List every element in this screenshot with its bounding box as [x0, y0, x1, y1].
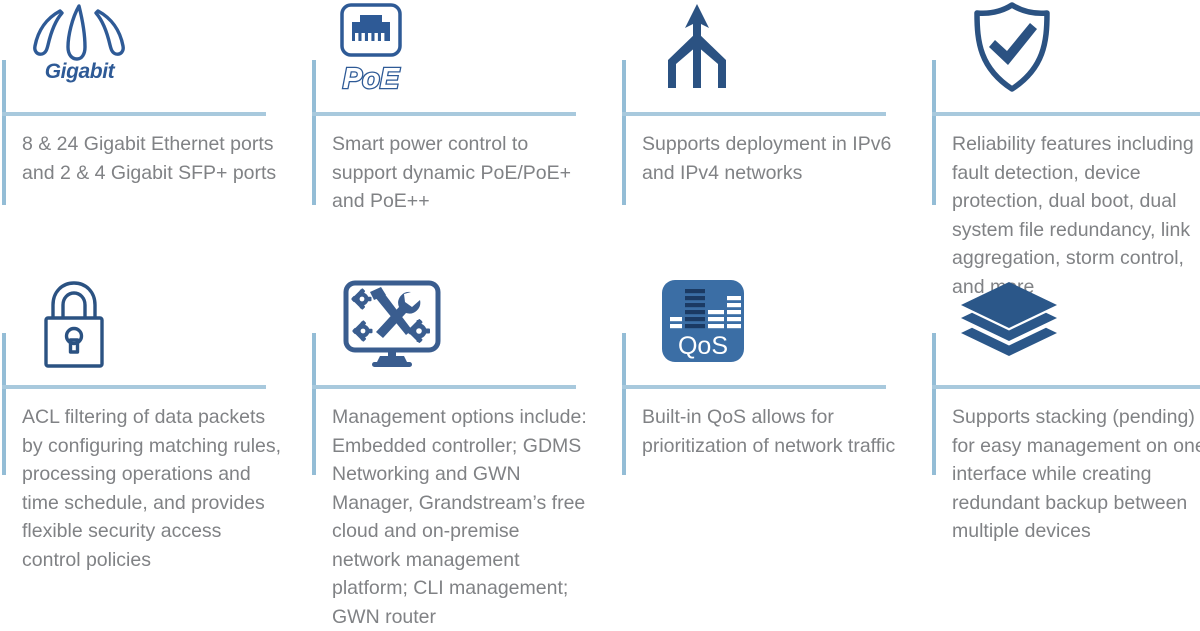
feature-card-gigabit: Gigabit 8 & 24 Gigabit Ethernet ports an…: [0, 0, 310, 270]
vertical-divider: [932, 60, 936, 205]
horizontal-divider: [2, 112, 266, 116]
feature-card-acl: ACL filtering of data packets by configu…: [0, 270, 310, 568]
monitor-tools-icon: [340, 278, 444, 378]
shield-check-glyph: [968, 2, 1056, 94]
feature-text: Smart power control to support dynamic P…: [332, 130, 592, 216]
feature-text: Supports stacking (pending) for easy man…: [952, 403, 1200, 546]
feature-text: ACL filtering of data packets by configu…: [22, 403, 282, 574]
stack-layers-icon: [958, 278, 1060, 378]
feature-text: Built-in QoS allows for prioritization o…: [642, 403, 902, 460]
converging-arrow-glyph: [656, 2, 738, 94]
horizontal-divider: [932, 385, 1200, 389]
shield-check-icon: [968, 2, 1056, 102]
horizontal-divider: [932, 112, 1200, 116]
vertical-divider: [312, 333, 316, 475]
vertical-divider: [622, 60, 626, 205]
ethernet-port-glyph: [332, 2, 410, 60]
svg-text:PoE: PoE: [343, 63, 401, 95]
qos-badge-glyph: QoS: [660, 278, 746, 364]
qos-icon: QoS: [660, 278, 746, 378]
padlock-icon: [34, 278, 114, 378]
feature-text: Supports deployment in IPv6 and IPv4 net…: [642, 130, 902, 187]
horizontal-divider: [312, 385, 576, 389]
feature-card-ipv6: Supports deployment in IPv6 and IPv4 net…: [620, 0, 930, 270]
gigabit-glyph: [22, 2, 137, 64]
feature-card-poe: PoE Smart power control to support dynam…: [310, 0, 620, 270]
gigabit-icon: Gigabit: [22, 2, 137, 102]
vertical-divider: [2, 333, 6, 475]
poe-wordmark-glyph: PoE: [332, 60, 410, 96]
padlock-glyph: [34, 278, 114, 374]
vertical-divider: [932, 333, 936, 475]
gigabit-icon-label: Gigabit: [45, 60, 115, 84]
horizontal-divider: [622, 112, 886, 116]
horizontal-divider: [312, 112, 576, 116]
feature-card-management: Management options include: Embedded con…: [310, 270, 620, 568]
monitor-tools-glyph: [340, 278, 444, 368]
feature-card-reliability: Reliability features including fault det…: [930, 0, 1200, 270]
poe-icon: PoE: [332, 2, 410, 102]
vertical-divider: [312, 60, 316, 205]
feature-card-stacking: Supports stacking (pending) for easy man…: [930, 270, 1200, 568]
feature-text: 8 & 24 Gigabit Ethernet ports and 2 & 4 …: [22, 130, 282, 187]
feature-grid: Gigabit 8 & 24 Gigabit Ethernet ports an…: [0, 0, 1200, 568]
vertical-divider: [2, 60, 6, 205]
feature-text: Management options include: Embedded con…: [332, 403, 592, 631]
qos-icon-label: QoS: [678, 332, 728, 360]
horizontal-divider: [622, 385, 886, 389]
stacked-layers-glyph: [958, 278, 1060, 362]
horizontal-divider: [2, 385, 266, 389]
feature-card-qos: QoS Built-in QoS allows for prioritizati…: [620, 270, 930, 568]
vertical-divider: [622, 333, 626, 475]
ipv6-arrow-icon: [656, 2, 738, 102]
